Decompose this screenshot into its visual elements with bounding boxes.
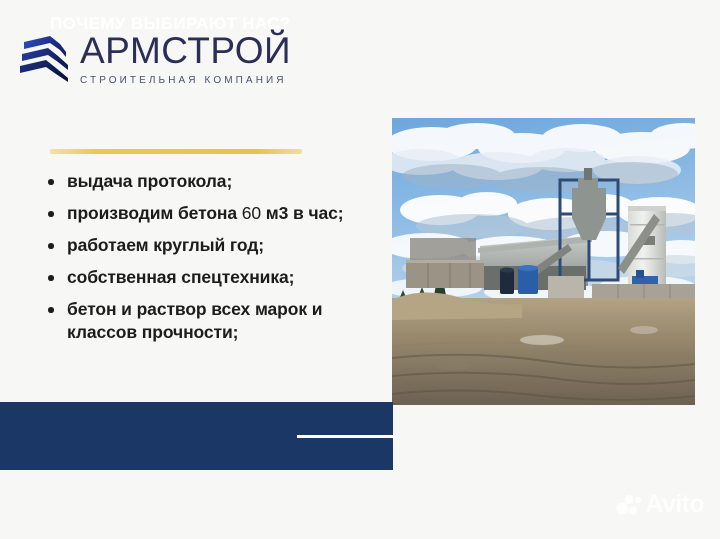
building-stairs-logo-icon <box>16 32 72 84</box>
slide-root: АРМСТРОЙ СТРОИТЕЛЬНАЯ КОМПАНИЯ выдача пр… <box>0 0 720 539</box>
avito-wordmark: Avito <box>645 492 704 517</box>
list-item: работаем круглый год; <box>44 234 374 257</box>
list-item-text: работаем круглый год; <box>67 235 264 255</box>
list-item: производим бетона 60 м3 в час; <box>44 202 374 225</box>
list-item: выдача протокола; <box>44 170 374 193</box>
gold-accent-rule <box>50 149 302 154</box>
list-item-text: бетон и раствор всех марок и классов про… <box>67 299 322 342</box>
brand-text: АРМСТРОЙ СТРОИТЕЛЬНАЯ КОМПАНИЯ <box>80 30 291 86</box>
banner-accent-rule <box>297 435 393 438</box>
list-item-text: выдача протокола; <box>67 171 232 191</box>
list-item-text: собственная спецтехника; <box>67 267 294 287</box>
page-title: ПОЧЕМУ ВЫБИРАЮТ НАС? <box>50 10 310 38</box>
benefits-list: выдача протокола; производим бетона 60 м… <box>44 170 374 354</box>
brand-logo: АРМСТРОЙ СТРОИТЕЛЬНАЯ КОМПАНИЯ <box>16 30 291 86</box>
concrete-plant-photo <box>392 118 695 405</box>
avito-dots-icon <box>616 494 642 516</box>
avito-watermark: Avito <box>616 492 704 517</box>
photo-image <box>392 118 695 405</box>
list-item-value: 60 <box>242 203 261 223</box>
list-item-text-pre: производим бетона <box>67 203 242 223</box>
list-item-text-post: м3 в час; <box>261 203 343 223</box>
list-item: собственная спецтехника; <box>44 266 374 289</box>
list-item: бетон и раствор всех марок и классов про… <box>44 298 374 344</box>
brand-tagline: СТРОИТЕЛЬНАЯ КОМПАНИЯ <box>80 76 291 86</box>
